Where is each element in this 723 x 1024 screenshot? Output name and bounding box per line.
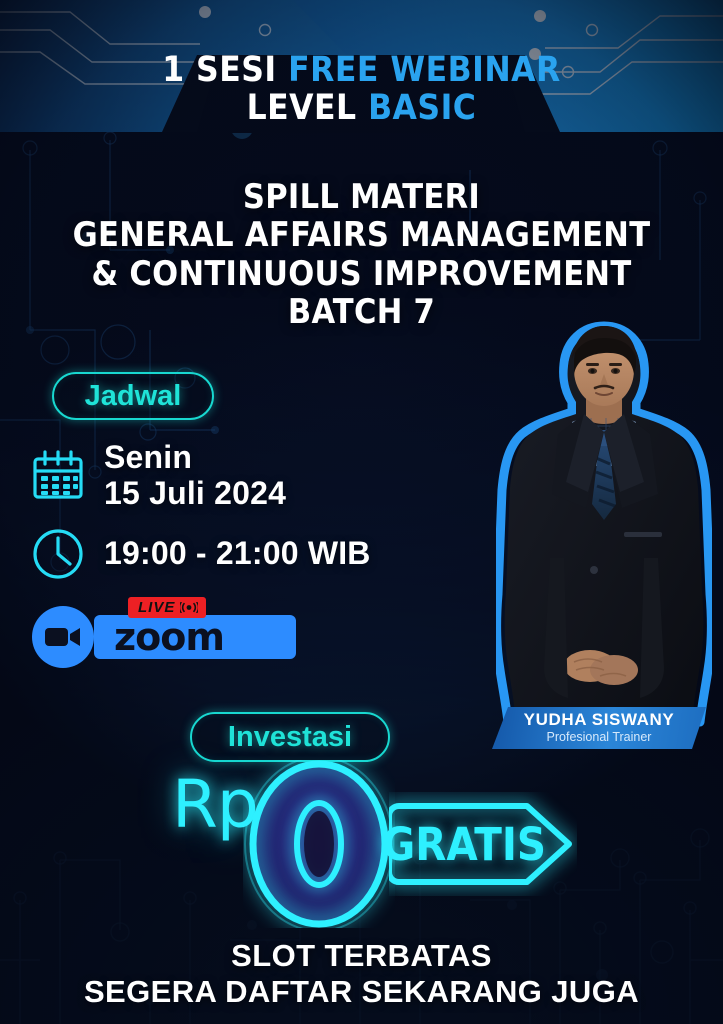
title-line-2: GENERAL AFFAIRS MANAGEMENT	[0, 216, 723, 254]
speaker-name: YUDHA SISWANY	[524, 711, 675, 730]
price-amount-zero	[243, 760, 395, 928]
investment-badge: Investasi	[190, 712, 390, 762]
main-title: SPILL MATERI GENERAL AFFAIRS MANAGEMENT …	[0, 178, 723, 332]
webinar-poster: 1 SESI FREE WEBINAR LEVEL BASIC SPILL MA…	[0, 0, 723, 1024]
speaker-portrait	[496, 318, 712, 730]
calendar-icon	[30, 448, 86, 504]
call-to-action: SLOT TERBATAS SEGERA DAFTAR SEKARANG JUG…	[0, 938, 723, 1010]
video-camera-icon	[32, 606, 94, 668]
cta-line-1: SLOT TERBATAS	[0, 938, 723, 974]
title-line-3: & CONTINUOUS IMPROVEMENT	[0, 255, 723, 293]
schedule-date-row: Senin 15 Juli 2024	[30, 440, 371, 512]
schedule-time-row: 19:00 - 21:00 WIB	[30, 526, 371, 582]
title-line-1: SPILL MATERI	[0, 178, 723, 216]
live-badge: LIVE	[128, 597, 206, 618]
header-line2-blue: BASIC	[368, 88, 476, 128]
broadcast-icon	[180, 602, 198, 613]
header-line2-white: LEVEL	[247, 88, 357, 128]
zoom-wordmark-bar: zoom	[94, 615, 296, 659]
free-tag-label: GRATIS	[389, 792, 539, 896]
zoom-banner: LIVE zoom	[94, 615, 296, 659]
header-line1-blue: FREE WEBINAR	[288, 50, 561, 90]
schedule-time: 19:00 - 21:00 WIB	[104, 536, 371, 572]
free-tag: GRATIS	[389, 792, 577, 896]
schedule-date: 15 Juli 2024	[104, 476, 286, 512]
zoom-wordmark: zoom	[114, 618, 224, 656]
title-line-4: BATCH 7	[0, 293, 723, 331]
speaker-role: Profesional Trainer	[547, 730, 652, 745]
header-line1-white: 1 SESI	[162, 50, 276, 90]
cta-line-2: SEGERA DAFTAR SEKARANG JUGA	[0, 974, 723, 1010]
clock-icon	[30, 526, 86, 582]
speaker-name-badge: YUDHA SISWANY Profesional Trainer	[492, 707, 706, 749]
schedule-day: Senin	[104, 439, 192, 475]
zoom-platform-logo: LIVE zoom	[32, 606, 296, 668]
schedule-date-text: Senin 15 Juli 2024	[104, 440, 286, 512]
schedule-details: Senin 15 Juli 2024 19:00 - 21:00 WIB	[30, 440, 371, 596]
header-title: 1 SESI FREE WEBINAR LEVEL BASIC	[0, 52, 723, 128]
live-label: LIVE	[138, 599, 175, 616]
schedule-badge: Jadwal	[52, 372, 214, 420]
